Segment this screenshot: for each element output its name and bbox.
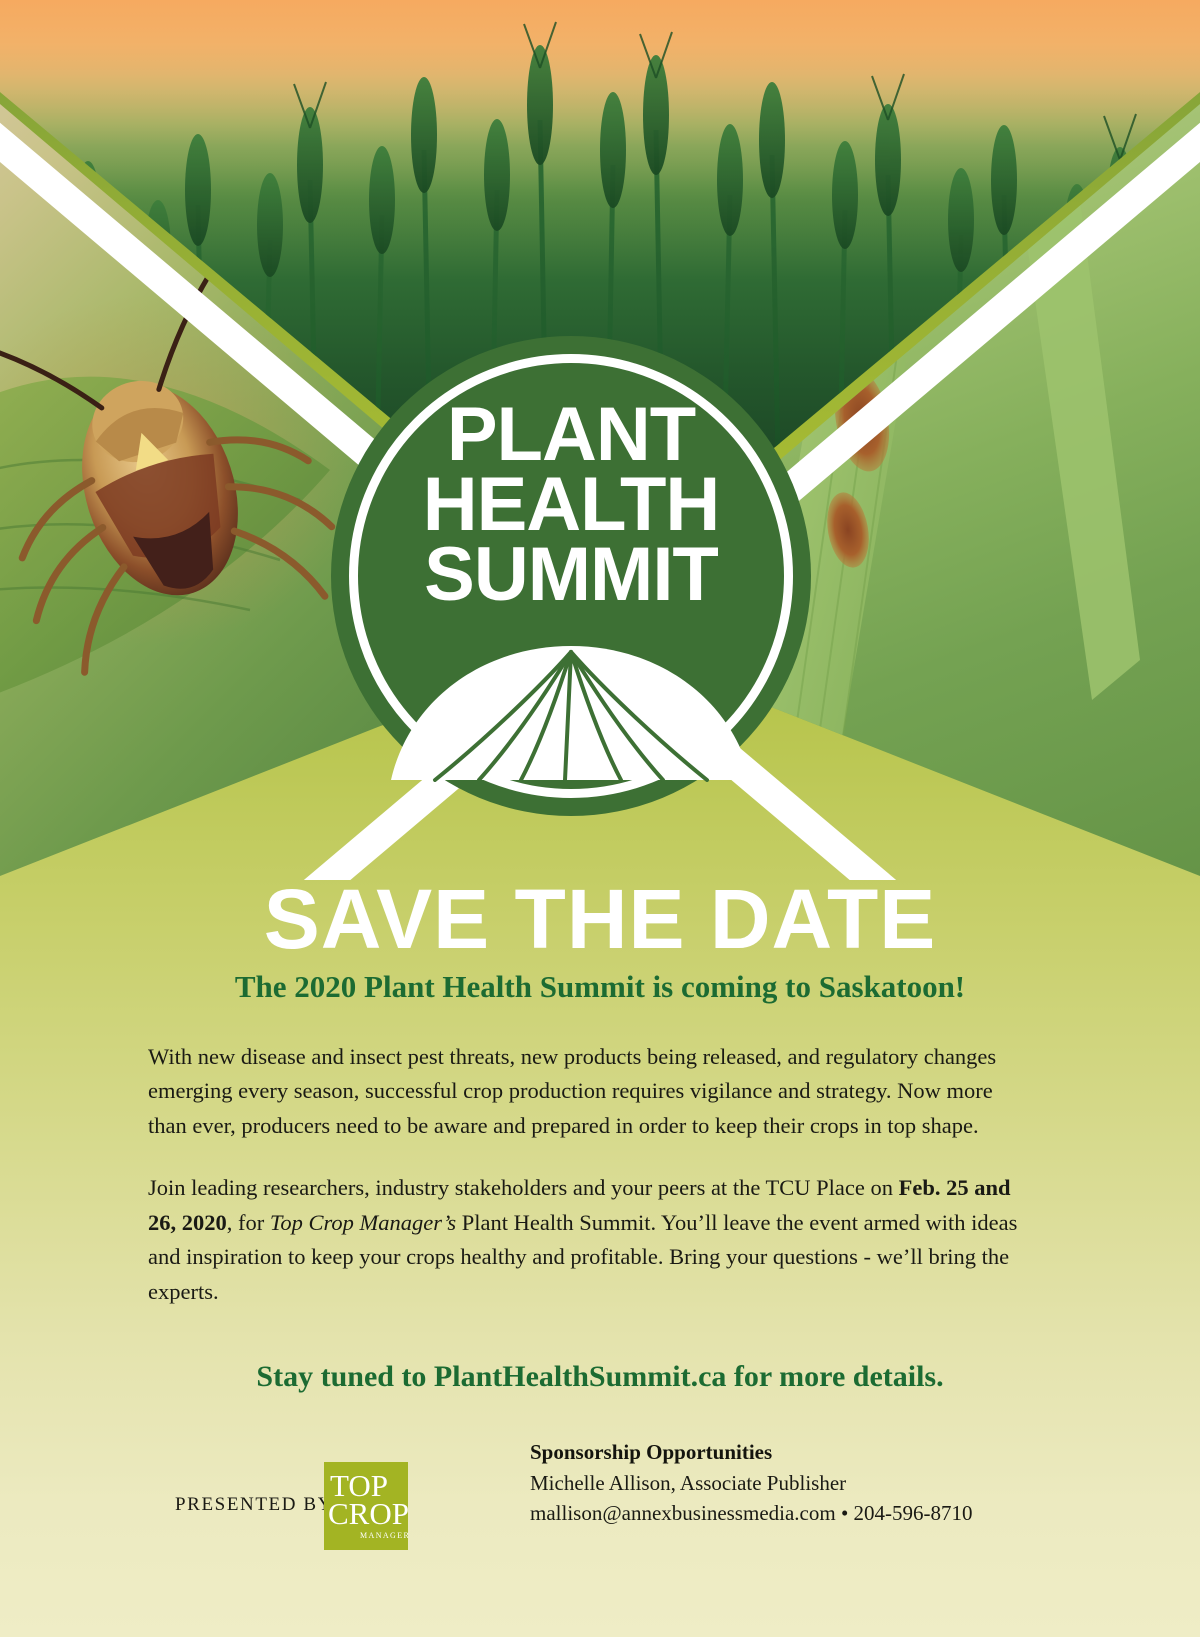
logo-line-plant: PLANT <box>331 400 811 470</box>
logo-line-summit: SUMMIT <box>331 540 811 610</box>
footer: PRESENTED BY TOP CROP MANAGER Sponsorshi… <box>0 1440 1200 1580</box>
subheadline: The 2020 Plant Health Summit is coming t… <box>0 969 1200 1005</box>
poster-save-the-date: PLANT HEALTH SUMMIT SAVE THE DATE The 20… <box>0 0 1200 1637</box>
logo-line-health: HEALTH <box>331 470 811 540</box>
paragraph-2: Join leading researchers, industry stake… <box>148 1171 1028 1309</box>
cta-website-line[interactable]: Stay tuned to PlantHealthSummit.ca for m… <box>0 1360 1200 1394</box>
sponsorship-title: Sponsorship Opportunities <box>530 1440 973 1465</box>
contact-name: Michelle Allison, Associate Publisher <box>530 1471 973 1496</box>
contact-details[interactable]: mallison@annexbusinessmedia.com • 204-59… <box>530 1501 973 1526</box>
paragraph-1: With new disease and insect pest threats… <box>148 1040 1028 1143</box>
p2-text-a: Join leading researchers, industry stake… <box>148 1175 899 1200</box>
logo-wordmark: PLANT HEALTH SUMMIT <box>331 400 811 610</box>
p2-text-b: , for <box>227 1210 270 1235</box>
field-furrows-icon <box>391 642 751 782</box>
brand-name: Top Crop Manager’s <box>270 1210 456 1235</box>
tcm-line-manager: MANAGER <box>360 1532 408 1540</box>
tcm-line-crop: CROP <box>328 1498 408 1529</box>
presented-by-label: PRESENTED BY <box>175 1494 333 1516</box>
plant-health-summit-logo: PLANT HEALTH SUMMIT <box>331 336 811 816</box>
top-crop-manager-logo: TOP CROP MANAGER <box>324 1462 408 1550</box>
headline-save-the-date: SAVE THE DATE <box>0 877 1200 961</box>
body-copy: With new disease and insect pest threats… <box>148 1040 1028 1309</box>
sponsorship-block: Sponsorship Opportunities Michelle Allis… <box>530 1440 973 1526</box>
